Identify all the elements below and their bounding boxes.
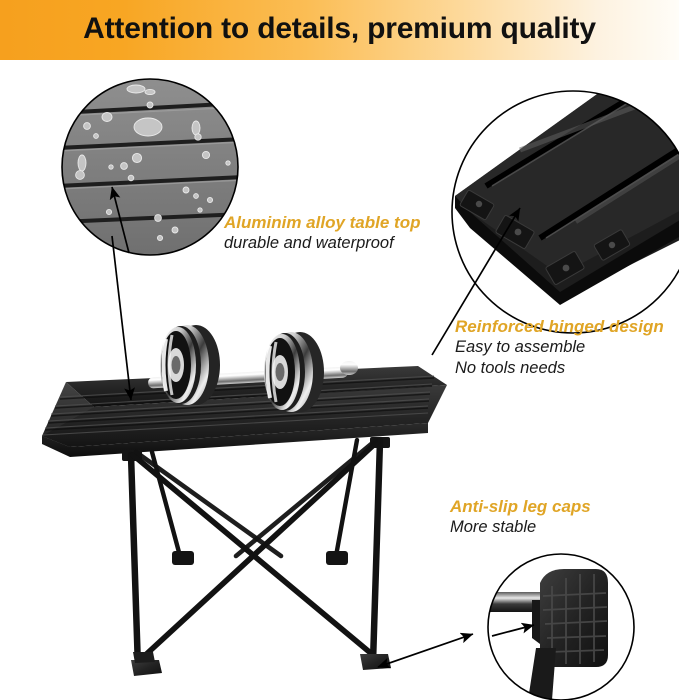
callout-tabletop-title: Aluminim alloy table top [224,212,420,233]
waterproof-detail-circle [58,77,244,259]
callout-legcaps: Anti-slip leg caps More stable [450,496,591,538]
callout-tabletop: Aluminim alloy table top durable and wat… [224,212,420,254]
product-table [42,366,447,676]
callout-tabletop-line-1: durable and waterproof [224,233,420,254]
callout-hinge-line-2: No tools needs [455,358,664,379]
legcap-detail-circle [484,552,638,700]
callout-hinge: Reinforced hinged design Easy to assembl… [455,316,664,379]
leader-arrow-tabletop-down [112,236,131,400]
callout-legcaps-line-1: More stable [450,517,591,538]
callout-legcaps-title: Anti-slip leg caps [450,496,591,517]
callout-hinge-line-1: Easy to assemble [455,337,664,358]
leg-foot-caps [131,652,391,676]
hinge-detail-circle [450,88,679,338]
leader-arrow-legcap [378,634,473,667]
infographic-page: Attention to details, premium quality [0,0,679,700]
callout-hinge-title: Reinforced hinged design [455,316,664,337]
